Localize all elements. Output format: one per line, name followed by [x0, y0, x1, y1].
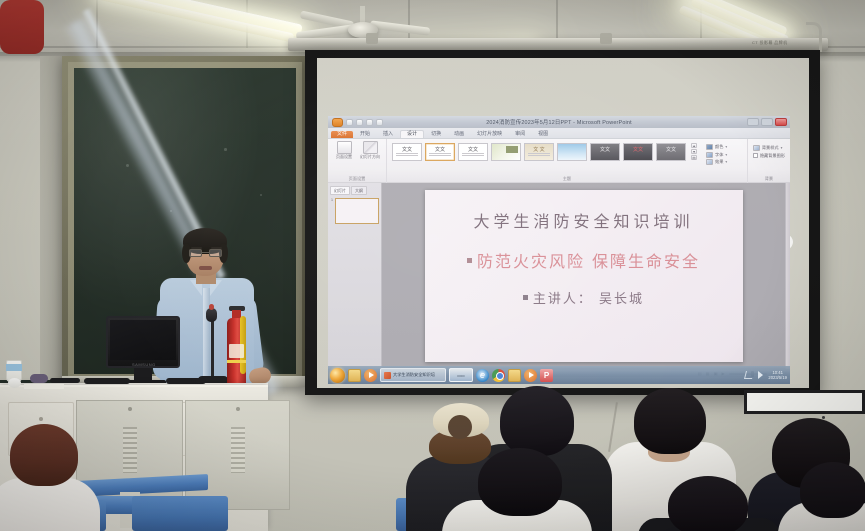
thumbnail-pane-tabs[interactable]: 幻灯片 大纲 — [330, 186, 379, 195]
cable — [84, 378, 130, 384]
taskbar-window-label: 大学生消防安全知识培 — [393, 372, 435, 378]
audience-member-head — [478, 448, 562, 516]
background-styles-button[interactable]: 背景样式 ▾ — [753, 145, 785, 151]
tab-insert[interactable]: 插入 — [377, 131, 399, 139]
classroom-chair — [132, 496, 228, 531]
chevron-down-icon[interactable]: ▾ — [725, 160, 727, 164]
page-setup-icon — [337, 141, 352, 154]
windows-taskbar[interactable]: 大学生消防安全知识培 ▭▭ 10:41 2023/5/19 — [328, 366, 790, 384]
powerpoint-title-bar: 2024消防宣传2023年5月12日PPT - Microsoft PowerP… — [328, 116, 790, 128]
theme-gallery[interactable]: 文文 文文 文文 文 文 文 — [392, 143, 686, 161]
hide-background-graphics-checkbox[interactable]: 隐藏背景图形 — [753, 153, 785, 159]
powerpoint-icon — [384, 372, 391, 379]
theme-fonts-button[interactable]: 字体 ▾ — [706, 152, 727, 158]
chevron-down-icon[interactable]: ▾ — [781, 146, 783, 150]
google-chrome-icon[interactable] — [492, 369, 505, 382]
audience-member-top — [0, 0, 44, 54]
slide-thumbnail-pane[interactable]: 幻灯片 大纲 1 — [328, 183, 382, 369]
microphone-stand — [211, 318, 214, 384]
roller-hook — [806, 22, 822, 52]
blackboard-wall-edge — [40, 56, 64, 386]
tab-animations[interactable]: 动画 — [448, 131, 470, 139]
monitor-screen — [110, 320, 176, 360]
video-player-icon[interactable] — [524, 369, 537, 382]
powerpoint-workspace: 幻灯片 大纲 1 大学生消防安全知识培训 防范火灾风险 保障生命安全 — [328, 183, 790, 369]
chevron-down-icon[interactable]: ▾ — [725, 145, 727, 149]
bullet-square-icon — [467, 258, 472, 263]
scroll-down-icon[interactable]: ▼ — [691, 149, 697, 154]
audience-member-head — [634, 388, 706, 454]
theme-thumbnail-selected[interactable]: 文文 — [425, 143, 455, 161]
small-cup — [8, 378, 21, 388]
theme-thumbnail[interactable]: 文文 — [656, 143, 686, 161]
tab-review[interactable]: 审阅 — [509, 131, 531, 139]
scroll-up-icon[interactable]: ▲ — [691, 143, 697, 148]
theme-thumbnail[interactable] — [491, 143, 521, 161]
folder-icon[interactable] — [508, 369, 521, 382]
cable — [166, 378, 206, 384]
clock-date: 2023/5/19 — [768, 375, 787, 380]
taskbar-clock[interactable]: 10:41 2023/5/19 — [768, 370, 787, 381]
tab-view[interactable]: 视图 — [532, 131, 554, 139]
ceiling-seam — [556, 0, 558, 40]
system-tray[interactable]: 10:41 2023/5/19 — [745, 370, 790, 381]
taskbar-window-powerpoint[interactable]: 大学生消防安全知识培 — [380, 368, 446, 382]
window-title: 2024消防宣传2023年5月12日PPT - Microsoft PowerP… — [328, 118, 790, 126]
slide-bullet-1-text: 防范火灾风险 保障生命安全 — [477, 248, 700, 272]
cup-label — [6, 364, 22, 371]
theme-thumbnail[interactable]: 文文 — [458, 143, 488, 161]
monitor-brand-label: SAMSUNG — [132, 362, 156, 367]
slide-thumbnail-1[interactable] — [335, 198, 379, 224]
page-setup-button[interactable]: 页面设置 — [333, 141, 355, 159]
whiteboard — [744, 390, 865, 414]
ribbon-group-background: 背景样式 ▾ 隐藏背景图形 背景 — [747, 139, 790, 183]
roller-mount — [600, 33, 612, 44]
volume-icon[interactable] — [758, 371, 763, 379]
locker-vent — [123, 427, 137, 473]
extinguisher-label — [229, 344, 244, 358]
cable — [50, 378, 80, 383]
taskbar-window-group[interactable]: ▭▭ — [449, 368, 473, 382]
theme-fonts-label: 字体 — [715, 152, 723, 158]
audience-member-head — [10, 424, 78, 486]
group-label-background: 背景 — [748, 176, 790, 182]
theme-colors-icon — [706, 144, 713, 150]
theme-fonts-icon — [706, 152, 713, 158]
theme-caption: 文文 — [624, 148, 652, 153]
checkbox-icon[interactable] — [753, 153, 758, 158]
tab-home[interactable]: 开始 — [354, 131, 376, 139]
page-setup-label: 页面设置 — [336, 155, 352, 159]
cap-opening — [448, 415, 472, 439]
tab-slideshow[interactable]: 幻灯片放映 — [471, 131, 508, 139]
theme-thumbnail[interactable]: 文文 — [392, 143, 422, 161]
ribbon-tab-bar[interactable]: 文件 开始 插入 设计 切换 动画 幻灯片放映 审阅 视图 — [328, 128, 790, 139]
group-label-page-setup: 页面设置 — [328, 176, 386, 182]
microphone-icon — [206, 308, 217, 322]
storage-locker — [185, 400, 290, 510]
audience-member-head — [500, 386, 574, 456]
close-button[interactable] — [775, 118, 787, 126]
ribbon[interactable]: 页面设置 幻灯片方向 页面设置 文文 文文 — [328, 139, 790, 183]
drawer-knob-icon — [39, 417, 43, 421]
start-button-icon[interactable] — [330, 368, 345, 383]
locker-vent — [231, 427, 245, 473]
glasses-icon — [189, 249, 222, 257]
slide-orientation-icon — [363, 141, 378, 154]
slide-orientation-label: 幻灯片方向 — [360, 155, 380, 159]
theme-caption: 文文 — [657, 148, 685, 153]
theme-effects-icon — [706, 159, 713, 165]
network-icon[interactable] — [744, 371, 754, 379]
tab-file[interactable]: 文件 — [331, 131, 353, 139]
bullet-square-icon — [523, 295, 528, 300]
theme-thumbnail[interactable] — [557, 143, 587, 161]
tab-design[interactable]: 设计 — [400, 130, 424, 139]
powerpoint-window[interactable]: 2024消防宣传2023年5月12日PPT - Microsoft PowerP… — [328, 116, 790, 384]
theme-side-menu[interactable]: 颜色 ▾ 字体 ▾ 效果 ▾ — [706, 143, 727, 167]
presenter-shirt-placket — [203, 288, 210, 384]
audience-member-head — [668, 476, 748, 531]
desk-object — [30, 374, 48, 383]
locker-knob-icon — [236, 407, 240, 411]
ribbon-group-themes: 文文 文文 文文 文 文 文 — [386, 139, 747, 183]
photoshop-icon[interactable] — [540, 369, 553, 382]
hide-background-graphics-label: 隐藏背景图形 — [760, 153, 785, 159]
theme-gallery-scroll[interactable]: ▲ ▼ ▤ — [691, 143, 697, 160]
locker-knob-icon — [128, 407, 132, 411]
restore-button[interactable] — [761, 118, 773, 126]
ribbon-group-page-setup: 页面设置 幻灯片方向 页面设置 — [328, 139, 386, 183]
theme-effects-button[interactable]: 效果 ▾ — [706, 159, 727, 165]
theme-effects-label: 效果 — [715, 159, 723, 165]
slide-bullet-1[interactable]: 防范火灾风险 保障生命安全 — [467, 248, 700, 272]
tab-outline[interactable]: 大纲 — [351, 186, 367, 195]
presenter-mouth — [199, 266, 212, 270]
background-styles-icon — [753, 145, 760, 151]
theme-colors-label: 颜色 — [715, 144, 723, 150]
chevron-down-icon[interactable]: ▾ — [725, 153, 727, 157]
gallery-expand-icon[interactable]: ▤ — [691, 155, 697, 160]
audience — [0, 0, 44, 54]
classroom-photo-scene: CT 投影幕 品牌机 TYPE SCREEN 2024消防宣传2023年5月12… — [0, 0, 865, 531]
slide-bullet-2[interactable]: 主讲人： 吴长城 — [523, 288, 644, 307]
current-slide[interactable]: 大学生消防安全知识培训 防范火灾风险 保障生命安全 主讲人： 吴长城 — [425, 190, 743, 362]
window-controls[interactable] — [747, 118, 787, 126]
roller-mount — [366, 33, 378, 44]
slide-editing-pane[interactable]: 大学生消防安全知识培训 防范火灾风险 保障生命安全 主讲人： 吴长城 — [382, 183, 785, 369]
slide-pane-scrollbar[interactable] — [785, 183, 790, 369]
slide-orientation-button[interactable]: 幻灯片方向 — [359, 141, 381, 159]
minimize-button[interactable] — [747, 118, 759, 126]
papers-on-desk — [24, 384, 64, 389]
clock-time: 10:41 — [772, 370, 782, 375]
theme-thumbnail[interactable]: 文文 — [623, 143, 653, 161]
slide-number: 1 — [331, 198, 333, 202]
internet-explorer-icon[interactable] — [476, 369, 489, 382]
audience-member-head — [800, 462, 865, 518]
tab-transitions[interactable]: 切换 — [425, 131, 447, 139]
group-label-themes: 主题 — [387, 176, 747, 182]
theme-thumbnail[interactable]: 文 文 — [524, 143, 554, 161]
extinguisher-band — [227, 360, 246, 363]
slide-title[interactable]: 大学生消防安全知识培训 — [473, 208, 693, 232]
theme-colors-button[interactable]: 颜色 ▾ — [706, 144, 727, 150]
theme-caption: 文文 — [591, 148, 619, 153]
media-player-icon[interactable] — [364, 369, 377, 382]
microphone-tip — [209, 304, 214, 310]
ceiling-seam — [408, 0, 410, 42]
slide-bullet-2-text: 主讲人： 吴长城 — [533, 288, 644, 307]
background-styles-label: 背景样式 — [762, 145, 779, 151]
theme-thumbnail[interactable]: 文文 — [590, 143, 620, 161]
tab-slides[interactable]: 幻灯片 — [330, 186, 350, 195]
windows-explorer-icon[interactable] — [348, 369, 361, 382]
roller-brand-label: CT 投影幕 品牌机 — [752, 40, 787, 46]
